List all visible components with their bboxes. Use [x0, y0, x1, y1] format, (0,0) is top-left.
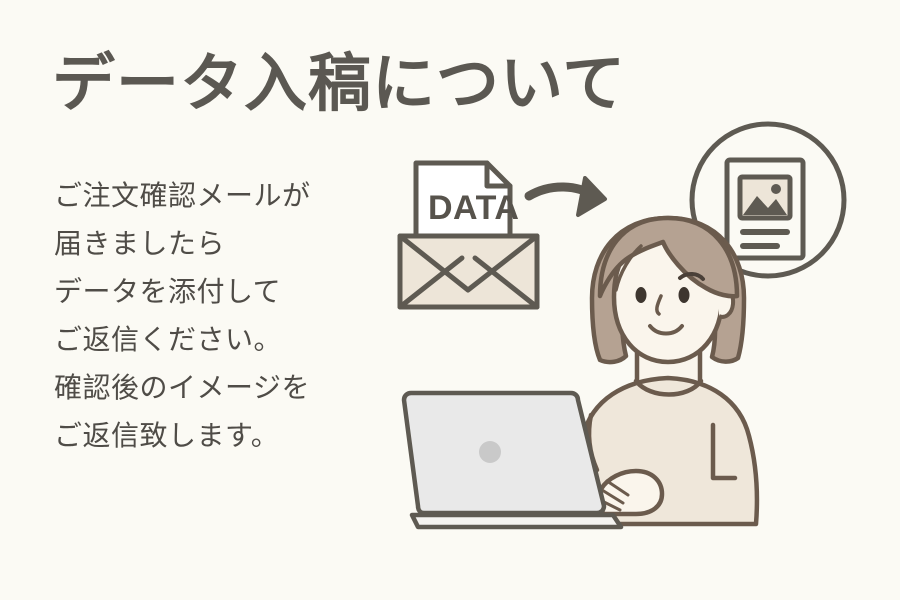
data-label: DATA: [428, 189, 519, 227]
eye-right: [679, 287, 690, 303]
envelope-with-data-document: DATA: [400, 163, 537, 307]
laptop-logo-icon: [479, 441, 501, 463]
person-illustration: [574, 218, 757, 524]
laptop-lid: [404, 393, 604, 513]
image-placeholder-icon: [740, 177, 790, 218]
laptop-base: [412, 515, 621, 527]
envelope-icon: [400, 236, 537, 307]
curved-arrow-icon: [529, 178, 605, 215]
laptop: [404, 393, 621, 527]
eye-left: [636, 287, 647, 303]
illustration-group: DATA: [0, 0, 900, 600]
badge-text-line: [740, 243, 780, 249]
badge-text-line: [740, 229, 790, 235]
illustration-banner: データ入稿について ご注文確認メールが 届きましたら データを添付して ご返信く…: [0, 0, 900, 600]
